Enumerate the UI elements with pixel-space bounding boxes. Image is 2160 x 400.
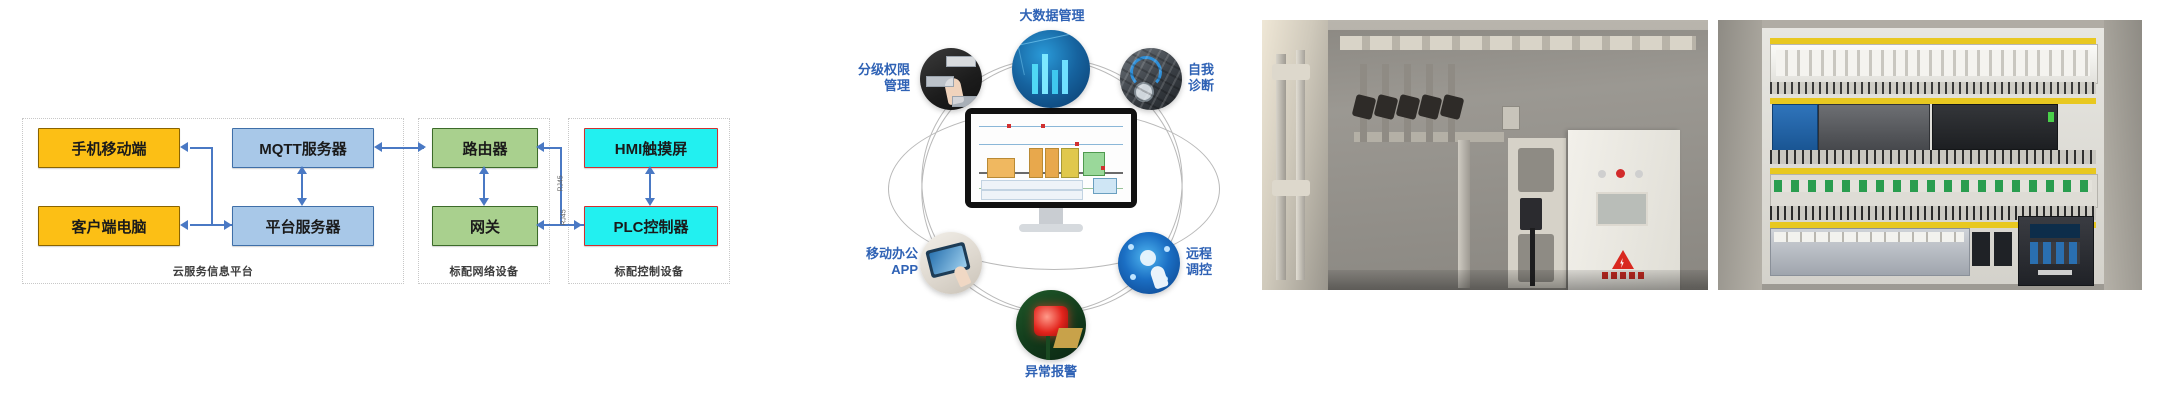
arrow-right-router	[418, 142, 426, 152]
scada-tank-2	[1029, 148, 1043, 178]
plc-status-led	[2048, 112, 2054, 122]
scada-basin	[1093, 178, 1117, 194]
plc-cpu-module[interactable]	[1818, 104, 1930, 152]
arrow-left-mobile	[180, 142, 188, 152]
door-clamp-1	[1272, 64, 1310, 80]
architecture-block-diagram: 云服务信息平台 标配网络设备 标配控制设备 手机移动端 客户端电脑 MQTT服务…	[0, 0, 780, 400]
scada-tank-1	[987, 158, 1015, 178]
relay-label-strip	[1774, 232, 1964, 242]
group-caption-control: 标配控制设备	[569, 263, 729, 279]
arrow-left-router-right	[536, 142, 544, 152]
terminal-markers-green	[1774, 180, 2092, 192]
network-touch-icon	[1140, 250, 1156, 266]
scada-monitor	[965, 108, 1137, 236]
scada-pipe-a	[979, 126, 1123, 127]
power-supply-module[interactable]	[1772, 104, 1818, 156]
scada-table-row-1	[981, 180, 1083, 190]
arrow-right-platform	[224, 220, 232, 230]
wire-bundle-1	[1770, 82, 2096, 94]
edge-mqtt-platform	[301, 172, 303, 200]
edge-hmi-plc	[649, 172, 651, 200]
level-tag-3	[952, 96, 978, 107]
bubble-self-diagnosis[interactable]	[1120, 48, 1182, 110]
scada-valve-2	[1041, 124, 1045, 128]
edge-riser-mobile	[211, 147, 213, 225]
edge-label-rj45-top: RJ45	[558, 175, 565, 191]
bubble-label-remote-control: 远程 调控	[1186, 246, 1246, 279]
data-mesh	[1017, 32, 1085, 75]
floor-shadow	[1328, 270, 1708, 290]
arrow-right-plc	[574, 220, 582, 230]
scada-tank-4	[1061, 148, 1079, 178]
vfd-display	[2030, 224, 2080, 238]
monitor-neck	[1039, 208, 1063, 224]
node-router[interactable]: 路由器	[432, 128, 538, 168]
scada-valve-3	[1075, 142, 1079, 146]
panel-left-frame	[1718, 20, 1762, 290]
level-tag-2	[926, 76, 954, 87]
wall-junction-box	[1502, 106, 1520, 130]
network-node-a	[1128, 244, 1134, 250]
edge-router-right	[544, 147, 561, 149]
breaker-toggles-1	[1776, 50, 2090, 76]
node-plc[interactable]: PLC控制器	[584, 206, 718, 246]
field-sensor-box	[1520, 198, 1542, 230]
bubble-label-access-control: 分级权限 管理	[816, 62, 910, 95]
node-platform-server[interactable]: 平台服务器	[232, 206, 374, 246]
node-gateway[interactable]: 网关	[432, 206, 538, 246]
group-caption-cloud: 云服务信息平台	[23, 263, 403, 279]
arrow-left-clientpc	[180, 220, 188, 230]
beacon-pole	[1046, 336, 1050, 360]
photo-outdoor-dosing-cabinet	[1262, 20, 1708, 290]
bubble-access-control[interactable]	[920, 48, 982, 110]
node-mqtt-server[interactable]: MQTT服务器	[232, 128, 374, 168]
door-hinge-rail	[1276, 54, 1286, 280]
node-client-pc[interactable]: 客户端电脑	[38, 206, 180, 246]
door-rail-2	[1296, 50, 1305, 280]
arrow-left-gateway	[536, 220, 544, 230]
bubble-label-self-diagnosis: 自我 诊断	[1188, 62, 1248, 95]
edge-label-rj45-bottom: RJ45	[561, 209, 568, 225]
top-light-strip	[1340, 36, 1696, 50]
vertical-downpipe	[1458, 140, 1470, 288]
group-caption-network: 标配网络设备	[419, 263, 549, 279]
electrical-warning-icon	[1612, 250, 1634, 269]
scada-table-row-2	[981, 190, 1083, 200]
monitor-base	[1019, 224, 1083, 232]
bubble-alarm[interactable]	[1016, 290, 1086, 360]
vfd-keypad[interactable]	[2030, 242, 2080, 264]
data-bar-3	[1052, 70, 1058, 94]
laptop-keys	[1120, 48, 1182, 110]
beacon-base	[1053, 328, 1083, 348]
monitor-screen	[971, 114, 1131, 202]
bubble-label-big-data: 大数据管理	[1002, 8, 1102, 24]
touch-hand	[1149, 264, 1169, 289]
plc-io-module[interactable]	[1932, 104, 2058, 150]
backplate-cutout-1	[1518, 148, 1554, 192]
scada-valve-4	[1101, 166, 1105, 170]
edge-mobile-horizontal	[190, 147, 212, 149]
photo-plc-control-panel	[1718, 20, 2142, 290]
door-clamp-2	[1272, 180, 1310, 196]
arrow-up-mqtt	[297, 166, 307, 174]
arrow-up-hmi	[645, 166, 655, 174]
wire-bundle-2	[1770, 150, 2096, 164]
bubble-label-alarm: 异常报警	[1001, 364, 1101, 380]
arrow-up-router	[479, 166, 489, 174]
network-node-c	[1130, 274, 1136, 280]
contactor-2[interactable]	[1994, 232, 2012, 266]
bubble-remote-control[interactable]	[1118, 232, 1180, 294]
bubble-big-data[interactable]	[1012, 30, 1090, 108]
indicator-lamp-grey-2	[1635, 170, 1643, 178]
arrow-down-plc	[645, 198, 655, 206]
arrow-down-platform	[297, 198, 307, 206]
bubble-label-mobile-app: 移动办公 APP	[838, 246, 918, 279]
arrow-left-mqtt	[374, 142, 382, 152]
contactor-1[interactable]	[1972, 232, 1990, 266]
arrow-down-gateway	[479, 198, 489, 206]
node-hmi[interactable]: HMI触摸屏	[584, 128, 718, 168]
scada-tank-5	[1083, 152, 1105, 176]
scada-tank-3	[1045, 148, 1059, 178]
composite-figure: 云服务信息平台 标配网络设备 标配控制设备 手机移动端 客户端电脑 MQTT服务…	[0, 0, 2160, 400]
indicator-lamp-grey-1	[1598, 170, 1606, 178]
network-node-b	[1164, 246, 1170, 252]
vfd-brand-mark	[2038, 270, 2072, 275]
enclosure-display-window[interactable]	[1596, 192, 1648, 226]
bubble-mobile-app[interactable]	[920, 232, 982, 294]
panel-right-frame	[2104, 20, 2142, 290]
scada-valve-1	[1007, 124, 1011, 128]
level-tag-1	[946, 56, 976, 67]
node-mobile[interactable]: 手机移动端	[38, 128, 180, 168]
indicator-lamp-red	[1616, 169, 1625, 178]
cabinet-left-door	[1262, 20, 1328, 290]
edge-router-gateway	[483, 172, 485, 200]
scada-pipe-b	[979, 144, 1123, 145]
capability-infographic: 大数据管理 自我 诊断 远程 调控 异常报警	[780, 0, 1340, 400]
